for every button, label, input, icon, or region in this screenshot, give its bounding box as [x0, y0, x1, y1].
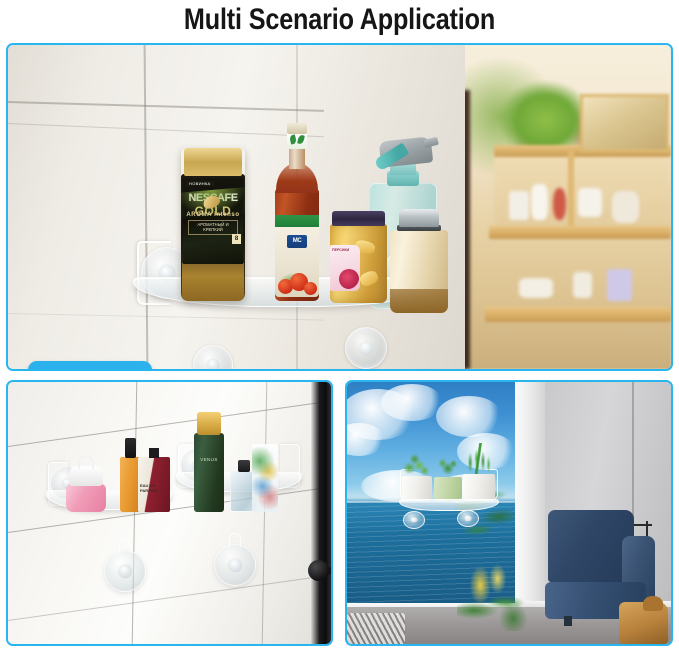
aloe-pot-white-right: [463, 474, 495, 500]
spare-suction-cup-1: [104, 550, 146, 592]
cream-jar-body: [66, 484, 106, 512]
panel-living-room: Living Room: [345, 380, 673, 646]
colorful-sachet: [252, 444, 278, 512]
honey-jar-body: [390, 230, 448, 313]
background-item: [553, 188, 565, 220]
suction-cup-nub: [359, 341, 373, 355]
page-title: Multi Scenario Application: [54, 0, 624, 40]
grout-line: [8, 401, 328, 447]
background-item: [509, 191, 529, 220]
coffee-variant: AROMA intenso: [181, 212, 245, 218]
panel-bathroom: EAU DE PARFUM VENUS: [6, 380, 333, 646]
coffee-subtitle: АРОМАТНЫЙ И КРЕПКИЙ: [188, 220, 238, 235]
grout-line: [262, 382, 268, 644]
background-item: [578, 188, 603, 217]
coffee-new-flash: НОВИНКА: [186, 181, 214, 186]
spare-suction-cup-2: [214, 544, 256, 586]
spray-bottle-cap: [197, 412, 221, 435]
background-item: [519, 278, 553, 297]
background-item: [531, 184, 548, 220]
spray-nozzle: [423, 137, 439, 148]
dog-ear: [643, 596, 663, 611]
pickle-jar-cap: [332, 211, 385, 226]
suction-cup-nub: [410, 517, 417, 522]
door-knob: [308, 560, 329, 581]
armchair-back: [548, 510, 634, 581]
background-plant: [499, 81, 592, 152]
background-item: [573, 272, 593, 298]
living-room-scene: [347, 382, 671, 644]
suction-cup-nub: [228, 558, 242, 572]
wooden-shelf-middle: [489, 226, 671, 238]
coffee-granules: [182, 263, 244, 301]
coffee-jar-cap: [184, 148, 242, 176]
fruit-icon: [339, 269, 359, 289]
pot-body: [434, 477, 462, 500]
honey-contents: [390, 289, 448, 313]
cactus-pot-green-center: [434, 477, 462, 500]
perfume-cap: [125, 438, 136, 458]
kitchen-scene: НОВИНКА NESCAFE GOLD AROMA intenso АРОМА…: [8, 45, 671, 369]
succulent-pot-white-left: [402, 476, 432, 501]
pink-cream-jar: [66, 466, 106, 512]
panel-kitchen: НОВИНКА NESCAFE GOLD AROMA intenso АРОМА…: [6, 43, 673, 371]
suction-cup-nub: [118, 564, 132, 578]
green-gold-spray-bottle: VENUS: [194, 412, 224, 512]
armchair-leg: [564, 616, 572, 625]
honey-jar-cap: [399, 209, 439, 227]
cloud: [436, 396, 501, 437]
grout-line: [8, 101, 324, 111]
perfume-box-cap: [149, 448, 159, 458]
badge-kitchen: kitchen: [28, 361, 152, 371]
pickle-label-text: ПЕРСИКИ: [332, 248, 349, 253]
acrylic-shelf-living-room: [399, 455, 499, 528]
pickled-fruit-jar: ПЕРСИКИ: [330, 211, 387, 303]
cloud: [347, 423, 385, 455]
spray-bottle-body: VENUS: [194, 433, 224, 512]
nescafe-gold-coffee-jar: НОВИНКА NESCAFE GOLD AROMA intenso АРОМА…: [181, 148, 245, 301]
grout-line: [8, 575, 328, 621]
aloe-plant: [459, 443, 499, 477]
ketchup-brand-logo: MC: [287, 235, 307, 248]
perfume-box-label: EAU DE PARFUM: [140, 483, 170, 493]
ketchup-label: MC: [275, 227, 319, 297]
crystal-perfume-cap: [238, 460, 250, 472]
wooden-shelf-divider: [568, 149, 574, 230]
background-item: [612, 191, 639, 223]
suction-cup-hook: [119, 539, 131, 553]
bathroom-scene: EAU DE PARFUM VENUS: [8, 382, 331, 644]
wooden-dog-figure: [619, 602, 668, 644]
suction-cup-hook: [229, 533, 241, 547]
label-tomatoes: [277, 267, 317, 295]
cream-jar-lid: [69, 466, 103, 486]
coffee-strength-badge: 8: [232, 234, 241, 244]
ketchup-cap: [287, 123, 307, 134]
wooden-shelf-lower: [485, 307, 671, 322]
woven-basket: [347, 613, 405, 644]
framed-picture: [580, 94, 668, 152]
suction-cup-nub: [207, 359, 220, 371]
pickle-jar-label: ПЕРСИКИ: [330, 245, 360, 291]
cream-jar-handle: [78, 455, 94, 469]
pot-body: [463, 474, 495, 500]
yellow-lily-plant: [457, 552, 535, 631]
background-item: [607, 269, 632, 301]
shower-door-frame: [311, 382, 331, 644]
red-white-perfume-box: EAU DE PARFUM: [138, 448, 170, 512]
tomato-icon: [304, 282, 317, 295]
infographic-page: Multi Scenario Application: [0, 0, 679, 652]
pot-body: [402, 476, 432, 501]
suction-cup-right: [457, 510, 479, 528]
spray-bottle-label: VENUS: [194, 457, 224, 462]
cloud: [381, 384, 443, 421]
perfume-box-body: EAU DE PARFUM: [138, 457, 170, 512]
spray-trigger-head: [379, 136, 433, 167]
pickle-piece: [358, 269, 380, 288]
honey-jar: [390, 209, 448, 313]
shelf-plate: [399, 499, 499, 511]
spare-suction-cup-2: [345, 327, 387, 369]
suction-cup-nub: [465, 516, 472, 521]
ketchup-bottle: MC: [272, 123, 322, 301]
suction-cup-left: [403, 511, 425, 529]
